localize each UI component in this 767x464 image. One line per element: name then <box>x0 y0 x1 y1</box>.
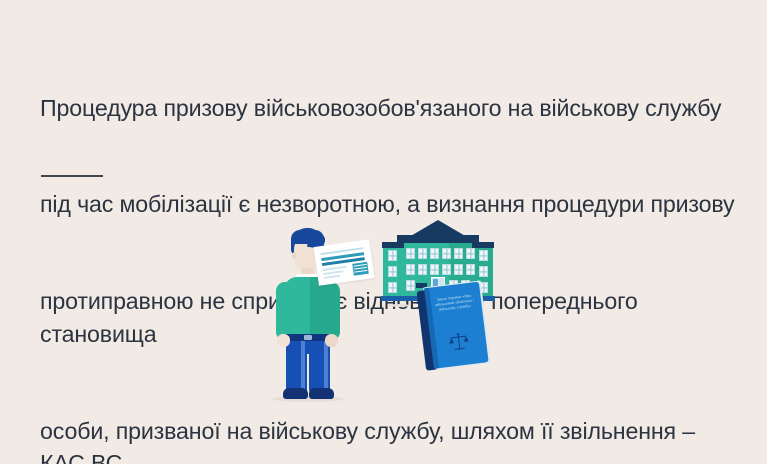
building-ground-shadow-left <box>388 304 410 307</box>
building-window <box>454 248 463 259</box>
headline-line-1: Процедура призову військовозобов'язаного… <box>40 92 740 124</box>
building-window <box>388 266 397 277</box>
building-window <box>442 248 451 259</box>
person-left-leg-highlight <box>301 341 305 391</box>
building-window <box>430 264 439 275</box>
headline-divider-rule <box>41 175 103 177</box>
person-left-arm <box>276 282 292 340</box>
illustration-scene: Закон України «Про військовий обов'язок … <box>0 200 767 464</box>
building-window <box>388 282 397 293</box>
building-window <box>479 250 488 261</box>
building-window <box>466 264 475 275</box>
person-left-hand <box>277 334 290 347</box>
military-summons-letter <box>314 239 375 285</box>
building-pediment-roof <box>409 220 467 237</box>
letter-text-line <box>324 275 340 279</box>
building-window <box>479 266 488 277</box>
person-right-leg-highlight <box>324 341 328 391</box>
person-right-shoe <box>309 388 334 399</box>
letter-text-line <box>323 270 343 274</box>
building-window <box>418 248 427 259</box>
scales-of-justice-icon <box>447 330 472 355</box>
building-window <box>442 264 451 275</box>
person-right-arm <box>324 282 340 340</box>
person-left-shoe <box>283 388 308 399</box>
building-window <box>388 250 397 261</box>
building-window <box>466 248 475 259</box>
building-window <box>406 264 415 275</box>
person-ear <box>292 252 296 259</box>
law-book: Закон України «Про військовий обов'язок … <box>416 280 492 371</box>
building-window <box>430 248 439 259</box>
building-window <box>454 264 463 275</box>
building-window <box>418 264 427 275</box>
person-right-hand <box>325 334 338 347</box>
letter-stamp-block <box>352 262 369 276</box>
building-window <box>406 248 415 259</box>
building-window <box>406 280 415 291</box>
person-belt-buckle <box>304 335 312 340</box>
infographic-card: Процедура призову військовозобов'язаного… <box>0 0 767 464</box>
